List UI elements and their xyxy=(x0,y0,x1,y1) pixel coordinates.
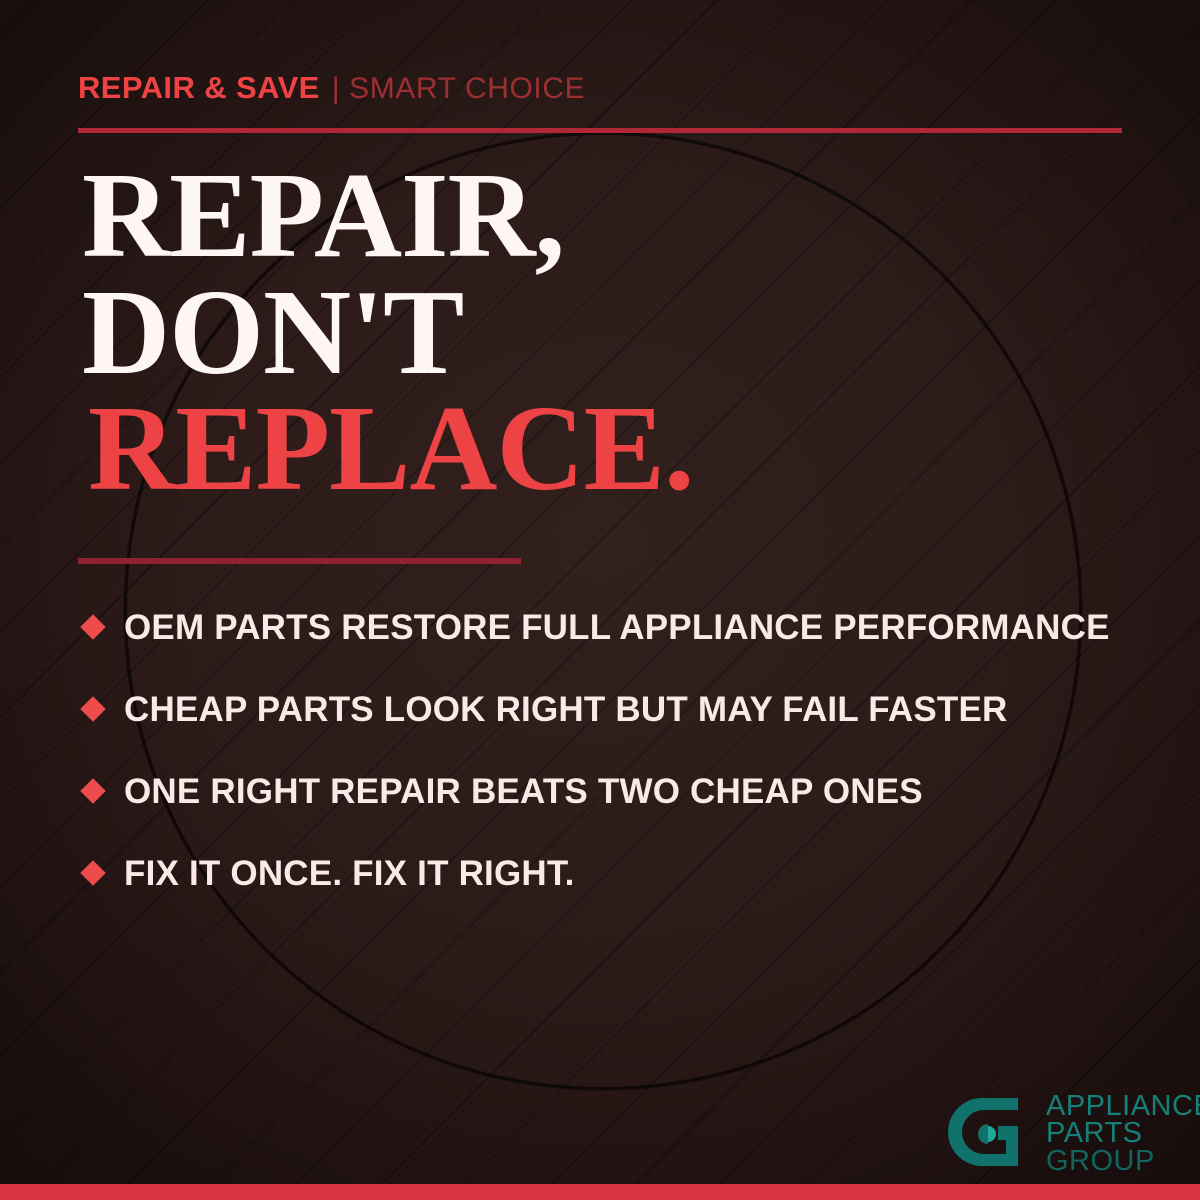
list-item: ONE RIGHT REPAIR BEATS TWO CHEAP ONES xyxy=(80,750,1150,832)
eyebrow: REPAIR & SAVE| SMART CHOICE xyxy=(78,72,585,104)
list-item: FIX IT ONCE. FIX IT RIGHT. xyxy=(80,832,1150,914)
list-item: CHEAP PARTS LOOK RIGHT BUT MAY FAIL FAST… xyxy=(80,668,1150,750)
list-item-label: OEM PARTS RESTORE FULL APPLIANCE PERFORM… xyxy=(124,610,1110,645)
headline-line-3-accent: REPLACE. xyxy=(88,391,693,508)
bottom-accent-bar xyxy=(0,1184,1200,1200)
logo-g-mark-icon xyxy=(948,1090,1036,1178)
eyebrow-kicker: REPAIR & SAVE xyxy=(78,70,320,105)
headline-line-2: DON'T xyxy=(82,275,693,392)
diamond-bullet-icon xyxy=(80,614,105,639)
benefits-list: OEM PARTS RESTORE FULL APPLIANCE PERFORM… xyxy=(80,586,1150,914)
poster-canvas: REPAIR & SAVE| SMART CHOICE REPAIR, DON'… xyxy=(0,0,1200,1200)
headline-underline-rule xyxy=(78,558,521,564)
list-item-label: CHEAP PARTS LOOK RIGHT BUT MAY FAIL FAST… xyxy=(124,692,1008,727)
brand-logo: APPLIANCE PARTS GROUP xyxy=(948,1090,1200,1178)
diamond-bullet-icon xyxy=(80,696,105,721)
list-item: OEM PARTS RESTORE FULL APPLIANCE PERFORM… xyxy=(80,586,1150,668)
headline: REPAIR, DON'T REPLACE. xyxy=(82,158,693,508)
logo-word-line-2: PARTS xyxy=(1046,1120,1200,1147)
list-item-label: FIX IT ONCE. FIX IT RIGHT. xyxy=(124,856,575,891)
logo-word-line-1: APPLIANCE xyxy=(1046,1093,1200,1120)
headline-line-1: REPAIR, xyxy=(82,158,693,275)
diamond-bullet-icon xyxy=(80,778,105,803)
poster-content: REPAIR & SAVE| SMART CHOICE REPAIR, DON'… xyxy=(0,0,1200,1200)
diamond-bullet-icon xyxy=(80,860,105,885)
list-item-label: ONE RIGHT REPAIR BEATS TWO CHEAP ONES xyxy=(124,774,923,809)
top-divider-rule xyxy=(78,128,1122,133)
logo-wordmark: APPLIANCE PARTS GROUP xyxy=(1046,1093,1200,1175)
logo-word-line-3: GROUP xyxy=(1046,1148,1200,1175)
eyebrow-subtitle: | SMART CHOICE xyxy=(332,72,585,105)
